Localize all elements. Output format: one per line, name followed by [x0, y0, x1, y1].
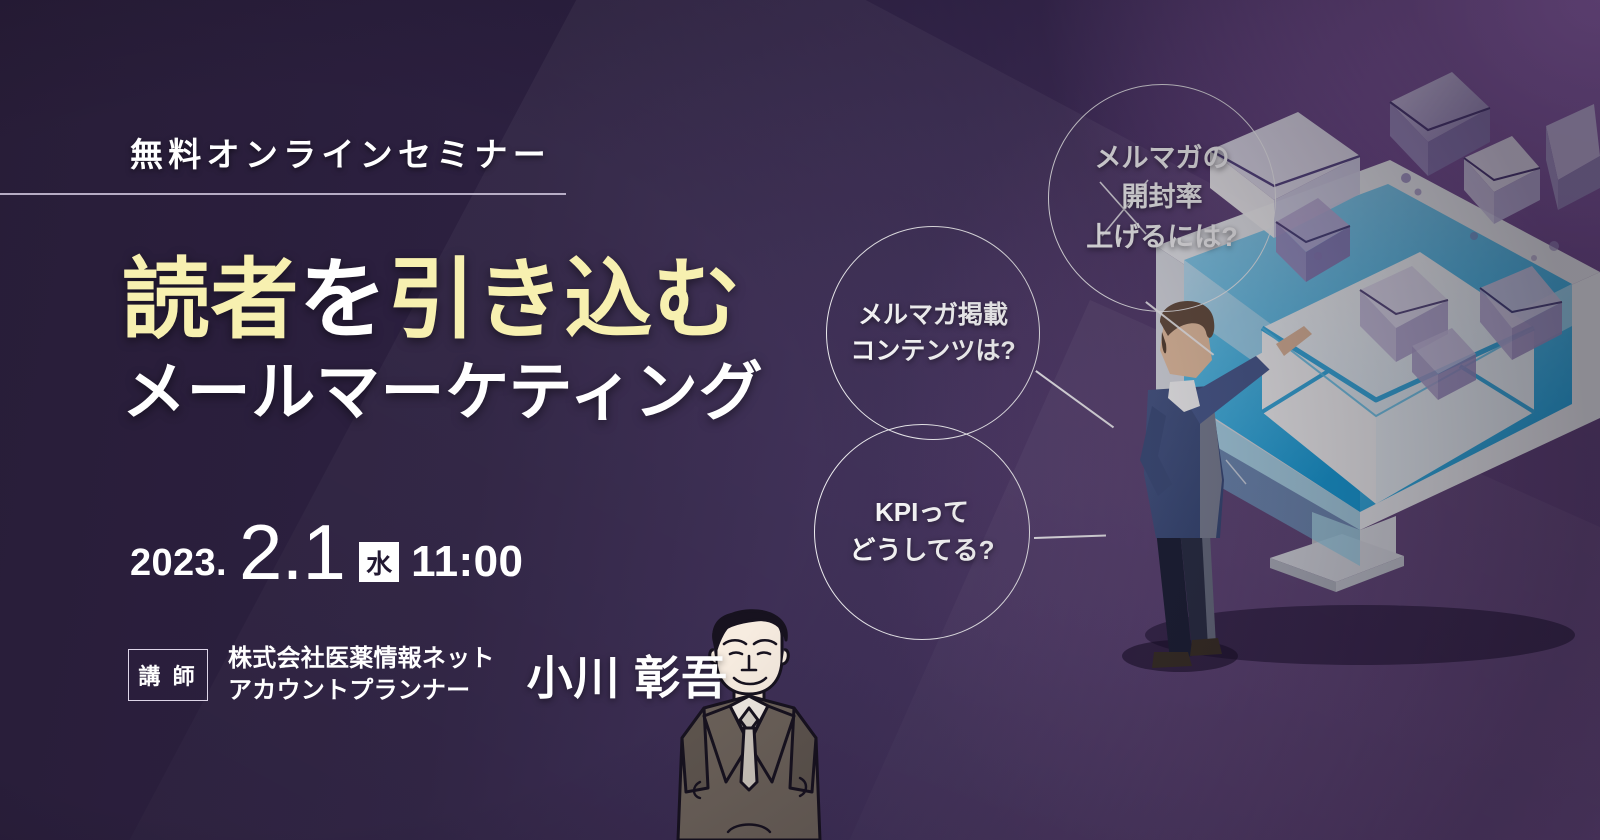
- title-part-2: を: [299, 250, 387, 349]
- event-weekday-badge: 水: [359, 542, 399, 582]
- seminar-banner: メルマガの 開封率 上げるには? メルマガ掲載 コンテンツは? KPIって どう…: [0, 0, 1600, 840]
- title-line-1: 読者を引き込む: [122, 255, 822, 345]
- bubble-kpi-text: KPIって どうしてる?: [849, 494, 994, 569]
- bubble-content-text: メルマガ掲載 コンテンツは?: [850, 297, 1015, 370]
- event-year: 2023.: [130, 544, 227, 586]
- page-title: 読者を引き込む メールマーケティング: [122, 255, 822, 426]
- title-part-3: 引き込む: [387, 250, 741, 349]
- title-line-2: メールマーケティング: [122, 359, 822, 426]
- copy-block: 無料オンラインセミナー 読者を引き込む メールマーケティング 2023. 2.1…: [0, 0, 800, 840]
- speaker-block: 講 師 株式会社医薬情報ネット アカウントプランナー 小川 彰吾: [128, 642, 728, 708]
- eyebrow-label: 無料オンラインセミナー: [0, 128, 566, 176]
- bubble-content: メルマガ掲載 コンテンツは?: [826, 226, 1040, 440]
- envelope-icon: [1546, 104, 1600, 210]
- eyebrow-block: 無料オンラインセミナー: [0, 128, 566, 195]
- speaker-role: アカウントプランナー: [228, 675, 495, 707]
- bubble-kpi: KPIって どうしてる?: [814, 424, 1030, 640]
- event-day: 2.1: [239, 519, 345, 586]
- title-part-1: 読者: [122, 250, 299, 349]
- event-datetime: 2023. 2.1 水 11:00: [130, 519, 523, 586]
- speaker-org: 株式会社医薬情報ネット アカウントプランナー: [228, 643, 495, 708]
- speaker-company: 株式会社医薬情報ネット: [228, 643, 495, 675]
- speaker-badge: 講 師: [128, 649, 208, 701]
- event-time: 11:00: [411, 540, 523, 586]
- bubble-open-rate-text: メルマガの 開封率 上げるには?: [1086, 139, 1238, 256]
- eyebrow-divider: [0, 193, 566, 195]
- bubble-open-rate: メルマガの 開封率 上げるには?: [1048, 84, 1276, 312]
- speaker-name: 小川 彰吾: [527, 642, 728, 708]
